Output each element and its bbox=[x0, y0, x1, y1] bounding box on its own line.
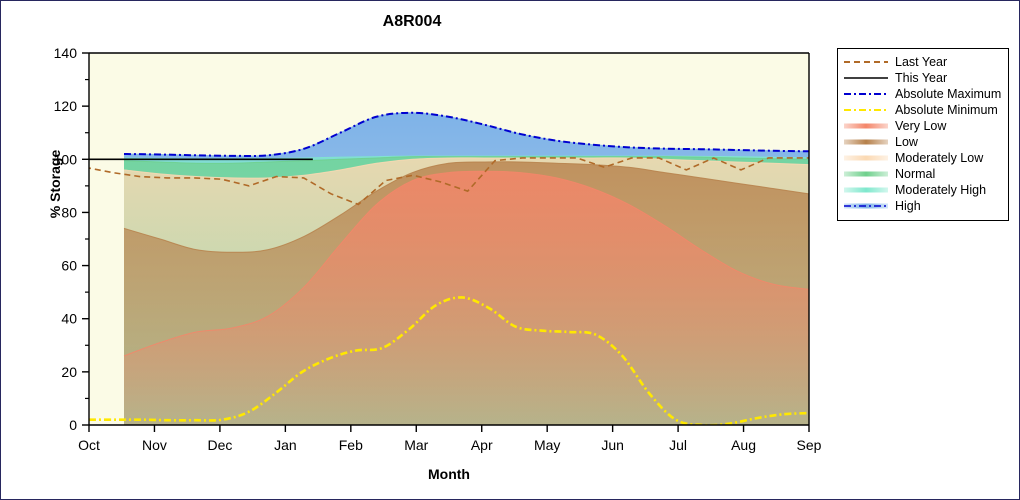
legend-item-label: Low bbox=[895, 134, 918, 150]
svg-text:60: 60 bbox=[61, 258, 77, 274]
legend-item-label: Normal bbox=[895, 166, 935, 182]
svg-text:120: 120 bbox=[54, 98, 78, 114]
y-axis-label: % Storage bbox=[47, 124, 63, 244]
legend-swatch-icon bbox=[844, 152, 888, 164]
svg-text:20: 20 bbox=[61, 364, 77, 380]
svg-text:Dec: Dec bbox=[207, 437, 232, 453]
legend-item-label: High bbox=[895, 198, 921, 214]
page-title: A8R004 bbox=[1, 13, 823, 31]
legend-item-label: This Year bbox=[895, 70, 947, 86]
svg-text:140: 140 bbox=[54, 45, 78, 61]
legend-item-label: Very Low bbox=[895, 118, 946, 134]
svg-text:Jul: Jul bbox=[669, 437, 687, 453]
legend-item-label: Absolute Maximum bbox=[895, 86, 1001, 102]
legend-swatch-icon bbox=[844, 200, 888, 212]
legend-item-last-year[interactable]: Last Year bbox=[844, 54, 1002, 70]
svg-text:40: 40 bbox=[61, 311, 77, 327]
legend-item-this-year[interactable]: This Year bbox=[844, 70, 1002, 86]
svg-text:80: 80 bbox=[61, 204, 77, 220]
legend-swatch-icon bbox=[844, 104, 888, 116]
svg-text:Oct: Oct bbox=[78, 437, 100, 453]
svg-text:Jan: Jan bbox=[274, 437, 297, 453]
legend-item-high[interactable]: High bbox=[844, 198, 1002, 214]
plot-area bbox=[89, 53, 809, 425]
legend-swatch-icon bbox=[844, 136, 888, 148]
legend-swatch-icon bbox=[844, 88, 888, 100]
svg-text:Feb: Feb bbox=[339, 437, 363, 453]
svg-text:May: May bbox=[534, 437, 560, 453]
legend-item-label: Moderately High bbox=[895, 182, 986, 198]
svg-text:Mar: Mar bbox=[404, 437, 428, 453]
chart-legend: Last YearThis YearAbsolute MaximumAbsolu… bbox=[837, 48, 1009, 221]
legend-item-label: Last Year bbox=[895, 54, 947, 70]
legend-item-low[interactable]: Low bbox=[844, 134, 1002, 150]
legend-item-moderately-high[interactable]: Moderately High bbox=[844, 182, 1002, 198]
legend-item-label: Absolute Minimum bbox=[895, 102, 998, 118]
svg-text:0: 0 bbox=[69, 417, 77, 433]
legend-item-normal[interactable]: Normal bbox=[844, 166, 1002, 182]
legend-item-moderately-low[interactable]: Moderately Low bbox=[844, 150, 1002, 166]
svg-text:Apr: Apr bbox=[471, 437, 493, 453]
legend-swatch-icon bbox=[844, 56, 888, 68]
legend-swatch-icon bbox=[844, 168, 888, 180]
svg-text:Nov: Nov bbox=[142, 437, 167, 453]
x-axis-label: Month bbox=[89, 466, 809, 482]
svg-text:Jun: Jun bbox=[601, 437, 624, 453]
legend-item-absolute-minimum[interactable]: Absolute Minimum bbox=[844, 102, 1002, 118]
legend-item-very-low[interactable]: Very Low bbox=[844, 118, 1002, 134]
svg-text:Sep: Sep bbox=[797, 437, 822, 453]
legend-item-absolute-maximum[interactable]: Absolute Maximum bbox=[844, 86, 1002, 102]
legend-swatch-icon bbox=[844, 72, 888, 84]
svg-text:Aug: Aug bbox=[731, 437, 756, 453]
plot-svg bbox=[89, 53, 809, 425]
legend-swatch-icon bbox=[844, 120, 888, 132]
legend-item-label: Moderately Low bbox=[895, 150, 983, 166]
chart-window: A8R004 % Storage Month 02040608010012014… bbox=[0, 0, 1020, 500]
legend-swatch-icon bbox=[844, 184, 888, 196]
